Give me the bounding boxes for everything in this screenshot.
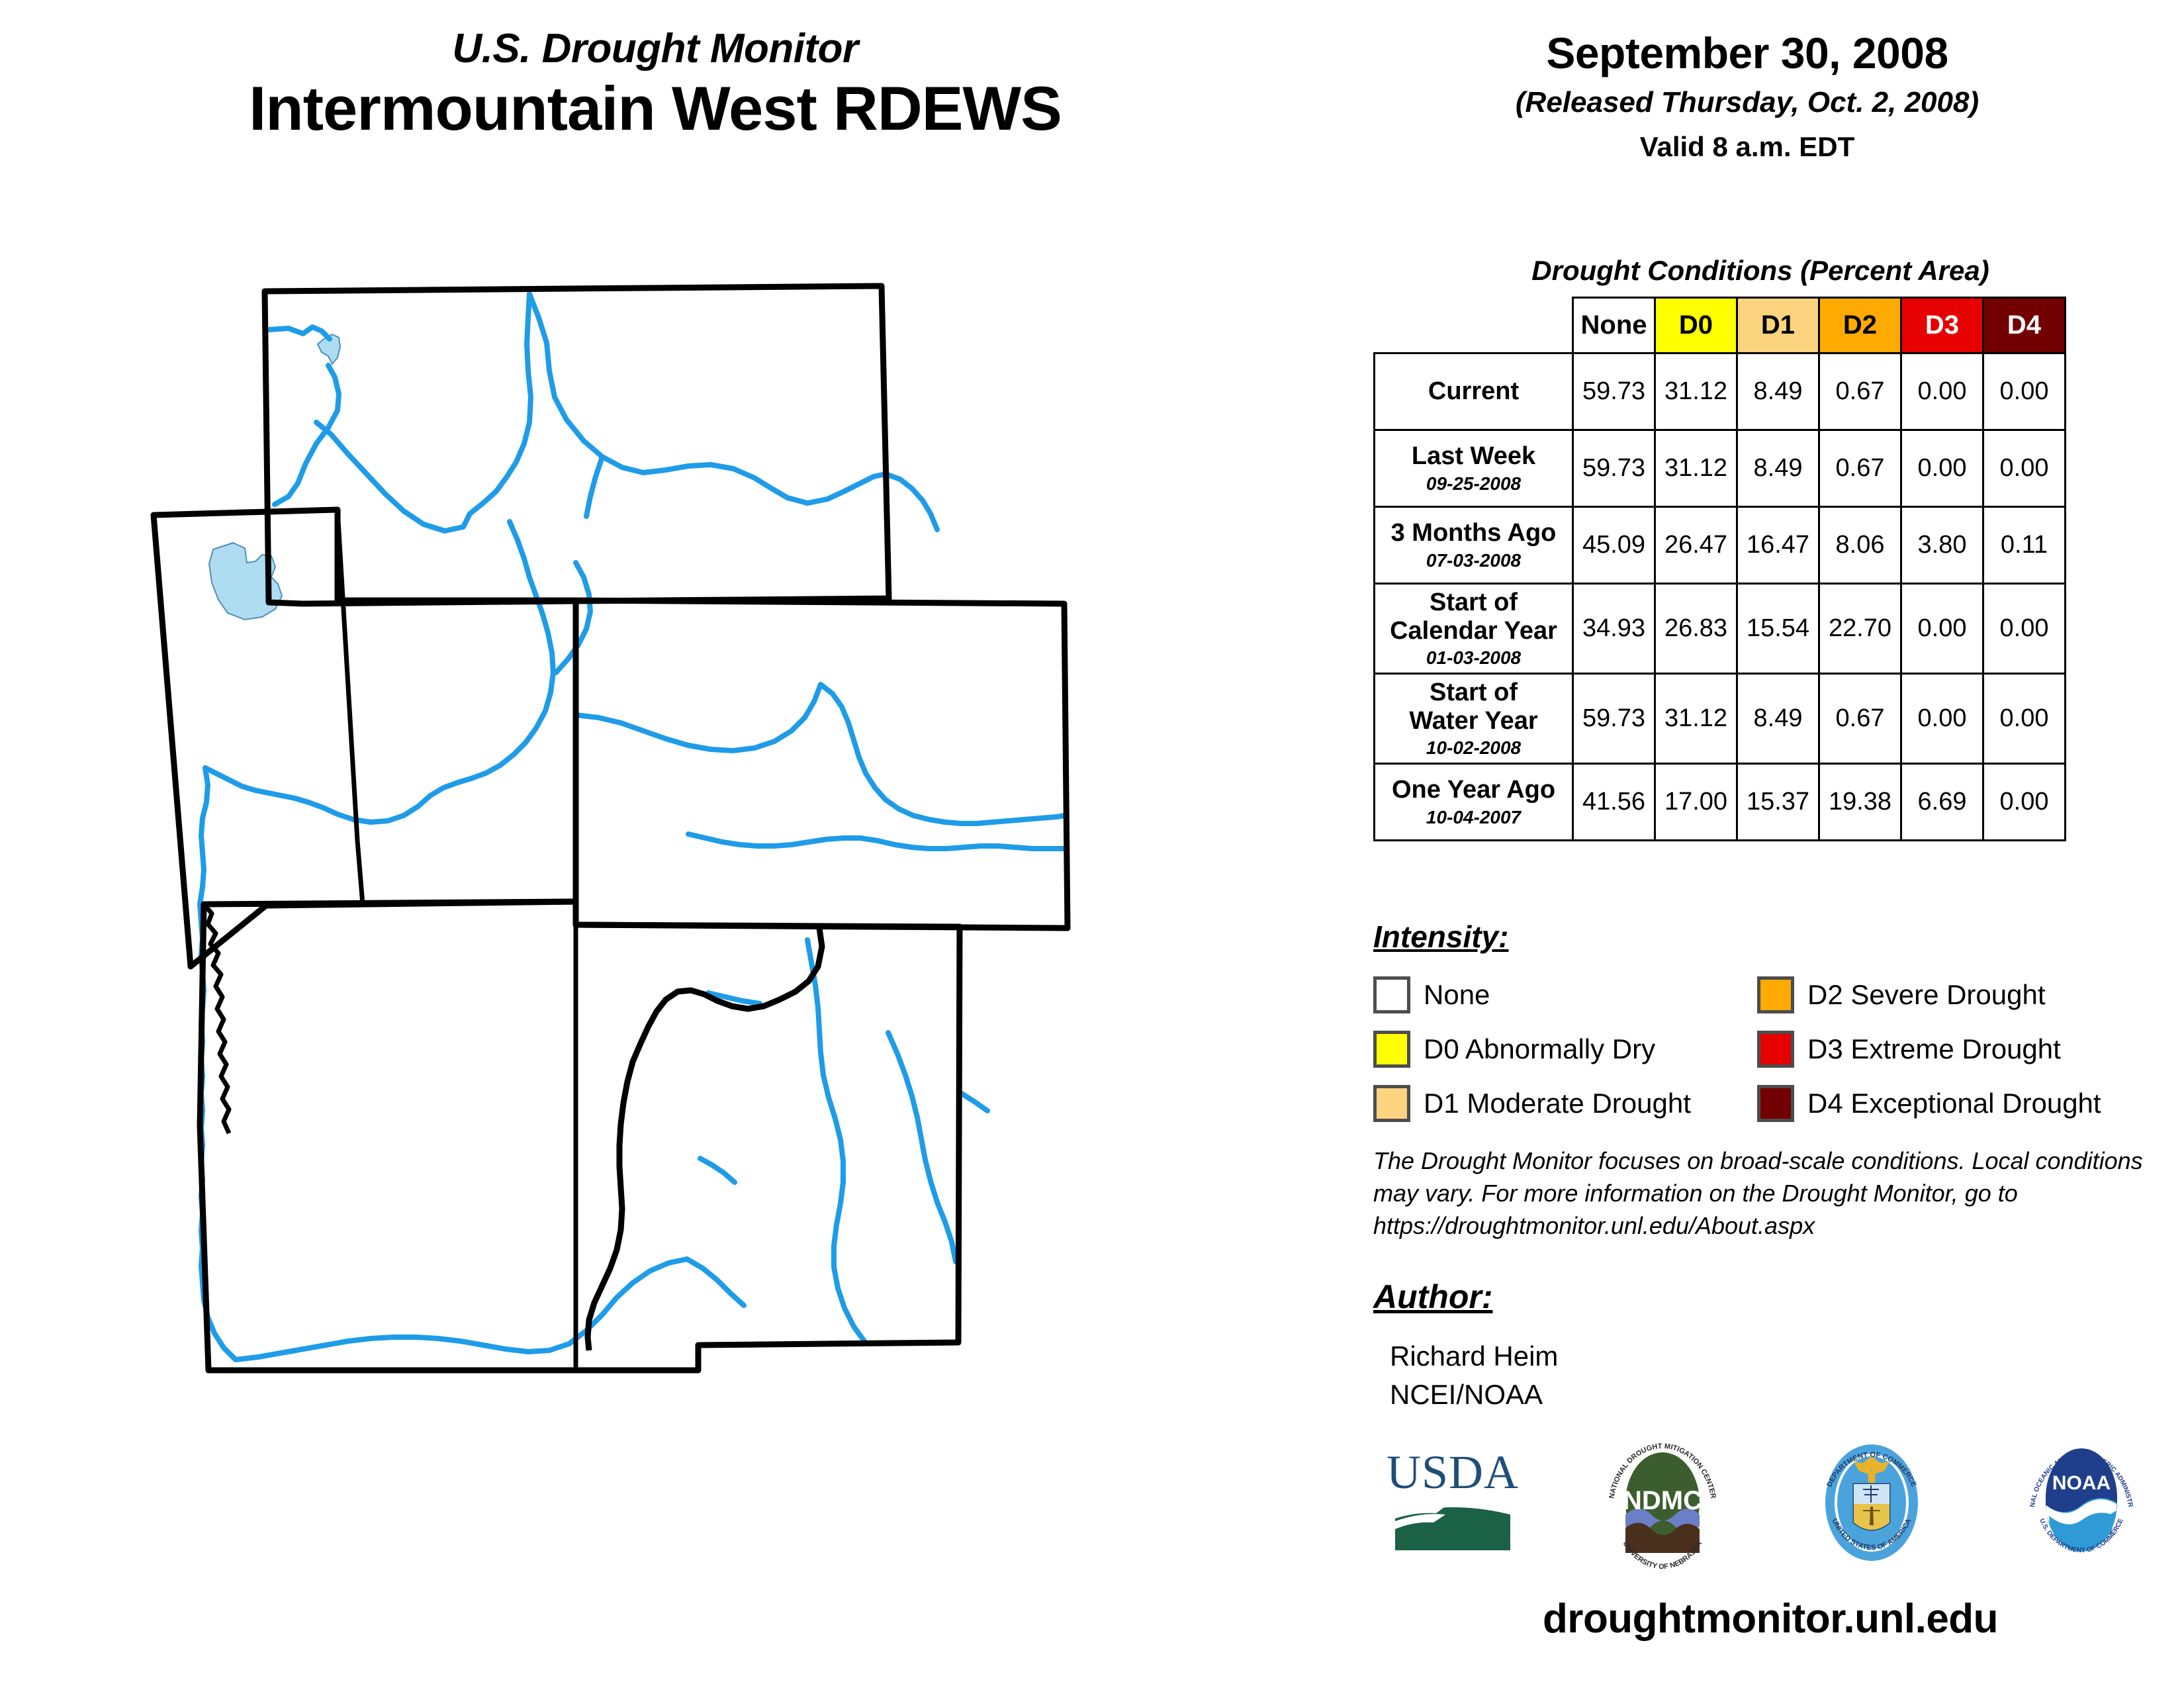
column-header-d2: D2	[1819, 298, 1901, 353]
row-label-date: 09-25-2008	[1378, 473, 1569, 494]
footer-url[interactable]: droughtmonitor.unl.edu	[1363, 1595, 2177, 1642]
legend-label: D1 Moderate Drought	[1424, 1088, 1691, 1119]
author-heading: Author:	[1373, 1278, 1493, 1316]
table-row: One Year Ago10-04-200741.5617.0015.3719.…	[1375, 764, 2066, 841]
legend-item: D4 Exceptional Drought	[1757, 1085, 2167, 1122]
table-cell-value: 26.47	[1655, 507, 1737, 584]
usda-logo: USDA	[1383, 1436, 1522, 1569]
table-cell-value: 3.80	[1901, 507, 1983, 584]
table-row: 3 Months Ago07-03-200845.0926.4716.478.0…	[1375, 507, 2066, 584]
row-label-cell: Start ofWater Year10-02-2008	[1375, 674, 1573, 764]
table-cell-value: 41.56	[1573, 764, 1655, 841]
table-cell-value: 0.67	[1819, 353, 1901, 430]
table-cell-value: 31.12	[1655, 353, 1737, 430]
author-affiliation: NCEI/NOAA	[1390, 1376, 1558, 1414]
legend-swatch	[1373, 1031, 1410, 1068]
author-name: Richard Heim	[1390, 1337, 1558, 1376]
noaa-logo: NOAA NATIONAL OCEANIC AND ATMOSPHERIC AD…	[2012, 1436, 2151, 1569]
table-cell-value: 0.00	[1983, 584, 2066, 674]
header-title-block: U.S. Drought Monitor Intermountain West …	[0, 28, 1310, 142]
row-label: Last Week	[1378, 442, 1569, 471]
legend-label: None	[1424, 979, 1490, 1011]
table-corner-cell	[1375, 298, 1573, 353]
partner-logos: USDA NDMC NATIONAL DROUGHT MITIGATION CE…	[1383, 1430, 2151, 1575]
drought-conditions-table: None D0 D1 D2 D3 D4 Current59.7331.128.4…	[1373, 297, 2066, 841]
row-label-date: 10-04-2007	[1378, 807, 1569, 828]
table-row: Current59.7331.128.490.670.000.00	[1375, 353, 2066, 430]
legend-label: D2 Severe Drought	[1807, 979, 2046, 1011]
column-header-d3: D3	[1901, 298, 1983, 353]
svg-text:NDMC: NDMC	[1623, 1486, 1702, 1515]
table-cell-value: 31.12	[1655, 674, 1737, 764]
column-header-none: None	[1573, 298, 1655, 353]
table-caption: Drought Conditions (Percent Area)	[1363, 255, 2158, 287]
table-cell-value: 34.93	[1573, 584, 1655, 674]
table-cell-value: 17.00	[1655, 764, 1737, 841]
legend-label: D4 Exceptional Drought	[1807, 1088, 2101, 1119]
legend-item: None	[1373, 976, 1757, 1013]
table-cell-value: 0.00	[1901, 353, 1983, 430]
legend-items: NoneD2 Severe DroughtD0 Abnormally DryD3…	[1373, 968, 2167, 1131]
legend-swatch	[1373, 1085, 1410, 1122]
table-cell-value: 59.73	[1573, 674, 1655, 764]
table-row: Start ofWater Year10-02-200859.7331.128.…	[1375, 674, 2066, 764]
svg-text:NOAA: NOAA	[2052, 1472, 2111, 1494]
header-date-block: September 30, 2008 (Released Thursday, O…	[1310, 28, 2184, 163]
row-label-date: 07-03-2008	[1378, 550, 1569, 571]
release-date: (Released Thursday, Oct. 2, 2008)	[1310, 86, 2184, 119]
legend-label: D0 Abnormally Dry	[1424, 1033, 1655, 1065]
table-cell-value: 15.54	[1737, 584, 1819, 674]
row-label: One Year Ago	[1378, 776, 1569, 804]
intensity-legend: Intensity: NoneD2 Severe DroughtD0 Abnor…	[1373, 919, 2167, 1131]
drought-map[interactable]	[139, 278, 1284, 1575]
legend-label: D3 Extreme Drought	[1807, 1033, 2061, 1065]
table-cell-value: 0.00	[1983, 764, 2066, 841]
column-header-d1: D1	[1737, 298, 1819, 353]
legend-item: D3 Extreme Drought	[1757, 1031, 2167, 1068]
table-cell-value: 45.09	[1573, 507, 1655, 584]
ndmc-logo: NDMC NATIONAL DROUGHT MITIGATION CENTER …	[1593, 1436, 1732, 1569]
row-label-cell: One Year Ago10-04-2007	[1375, 764, 1573, 841]
table-cell-value: 15.37	[1737, 764, 1819, 841]
row-label-date: 10-02-2008	[1378, 737, 1569, 759]
table-cell-value: 0.11	[1983, 507, 2066, 584]
table-cell-value: 0.00	[1983, 430, 2066, 507]
table-cell-value: 8.06	[1819, 507, 1901, 584]
author-block: Richard Heim NCEI/NOAA	[1390, 1337, 1558, 1414]
table-header-row: None D0 D1 D2 D3 D4	[1375, 298, 2066, 353]
row-label: Current	[1378, 377, 1569, 406]
table-cell-value: 6.69	[1901, 764, 1983, 841]
legend-item: D0 Abnormally Dry	[1373, 1031, 1757, 1068]
table-cell-value: 26.83	[1655, 584, 1737, 674]
row-label-cell: Current	[1375, 353, 1573, 430]
table-cell-value: 0.00	[1983, 674, 2066, 764]
row-label: Start ofWater Year	[1378, 679, 1569, 735]
legend-swatch	[1757, 976, 1794, 1013]
row-label-cell: Last Week09-25-2008	[1375, 430, 1573, 507]
table-cell-value: 0.67	[1819, 430, 1901, 507]
legend-swatch	[1757, 1031, 1794, 1068]
row-label: 3 Months Ago	[1378, 519, 1569, 547]
legend-swatch	[1373, 976, 1410, 1013]
table-cell-value: 8.49	[1737, 353, 1819, 430]
svg-text:USDA: USDA	[1387, 1446, 1519, 1499]
row-label-date: 01-03-2008	[1378, 647, 1569, 669]
page-subtitle: U.S. Drought Monitor	[0, 28, 1310, 70]
table-cell-value: 0.00	[1901, 674, 1983, 764]
table-cell-value: 8.49	[1737, 674, 1819, 764]
map-date: September 30, 2008	[1310, 28, 2184, 78]
table-cell-value: 31.12	[1655, 430, 1737, 507]
doc-logo: DEPARTMENT OF COMMERCE UNITED STATES OF …	[1802, 1436, 1941, 1569]
table-row: Last Week09-25-200859.7331.128.490.670.0…	[1375, 430, 2066, 507]
table-row: Start ofCalendar Year01-03-200834.9326.8…	[1375, 584, 2066, 674]
legend-title: Intensity:	[1373, 919, 2167, 955]
valid-time: Valid 8 a.m. EDT	[1310, 131, 2184, 163]
table-cell-value: 0.00	[1901, 430, 1983, 507]
table-cell-value: 59.73	[1573, 353, 1655, 430]
row-label: Start ofCalendar Year	[1378, 588, 1569, 645]
page-title: Intermountain West RDEWS	[0, 76, 1310, 142]
map-svg[interactable]	[139, 278, 1284, 1575]
table-cell-value: 16.47	[1737, 507, 1819, 584]
row-label-cell: 3 Months Ago07-03-2008	[1375, 507, 1573, 584]
table-cell-value: 8.49	[1737, 430, 1819, 507]
disclaimer-text: The Drought Monitor focuses on broad-sca…	[1373, 1145, 2167, 1243]
table-cell-value: 59.73	[1573, 430, 1655, 507]
table-cell-value: 19.38	[1819, 764, 1901, 841]
column-header-d0: D0	[1655, 298, 1737, 353]
row-label-cell: Start ofCalendar Year01-03-2008	[1375, 584, 1573, 674]
table-cell-value: 0.00	[1983, 353, 2066, 430]
legend-item: D1 Moderate Drought	[1373, 1085, 1757, 1122]
table-cell-value: 0.67	[1819, 674, 1901, 764]
map-base-layer	[154, 286, 1068, 1370]
legend-swatch	[1757, 1085, 1794, 1122]
table-cell-value: 22.70	[1819, 584, 1901, 674]
column-header-d4: D4	[1983, 298, 2066, 353]
legend-item: D2 Severe Drought	[1757, 976, 2167, 1013]
table-cell-value: 0.00	[1901, 584, 1983, 674]
